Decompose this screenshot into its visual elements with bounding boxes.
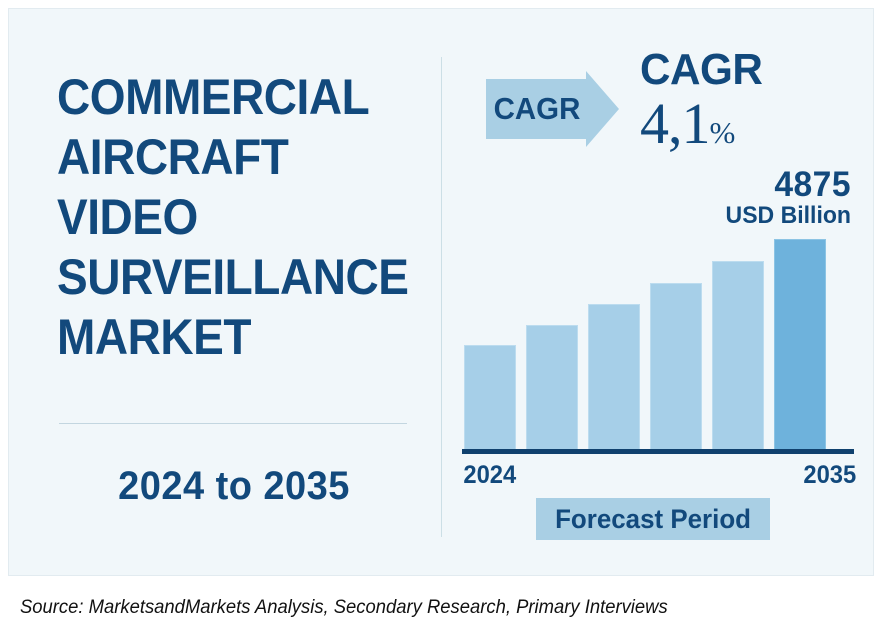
bar-2035 <box>774 239 826 452</box>
bar-3 <box>588 304 640 452</box>
cagr-unit: % <box>710 115 736 150</box>
forecast-period-badge: Forecast Period <box>536 498 770 540</box>
bar-5 <box>712 261 764 452</box>
chart-axis-line <box>462 449 854 454</box>
cagr-value: 4,1 <box>640 91 710 156</box>
axis-labels: 2024 2035 <box>462 461 858 490</box>
bar-chart <box>464 214 864 454</box>
cagr-title: CAGR <box>640 47 784 93</box>
cagr-arrow-label: CAGR <box>489 71 586 147</box>
bar-2 <box>526 325 578 452</box>
source-note: Source: MarketsandMarkets Analysis, Seco… <box>20 597 668 619</box>
page-title: COMMERCIAL AIRCRAFT VIDEO SURVEILLANCE M… <box>57 67 388 367</box>
axis-label-end: 2035 <box>804 461 857 490</box>
left-panel: COMMERCIAL AIRCRAFT VIDEO SURVEILLANCE M… <box>9 9 439 575</box>
axis-label-start: 2024 <box>463 461 516 490</box>
infographic-card: COMMERCIAL AIRCRAFT VIDEO SURVEILLANCE M… <box>8 8 874 576</box>
period-subtitle: 2024 to 2035 <box>58 464 410 509</box>
bars-row <box>464 214 854 452</box>
title-divider <box>59 423 407 424</box>
cagr-arrow-badge: CAGR <box>486 71 619 147</box>
cagr-value-block: CAGR 4,1% <box>640 47 790 153</box>
bar-2024 <box>464 345 516 452</box>
cagr-value-row: 4,1% <box>640 95 790 153</box>
bar-4 <box>650 283 702 452</box>
forecast-period-label: Forecast Period <box>555 504 751 535</box>
right-panel: CAGR CAGR 4,1% 4875 USD Billion 202 <box>442 9 873 575</box>
bar-value-number: 4875 <box>659 167 851 203</box>
